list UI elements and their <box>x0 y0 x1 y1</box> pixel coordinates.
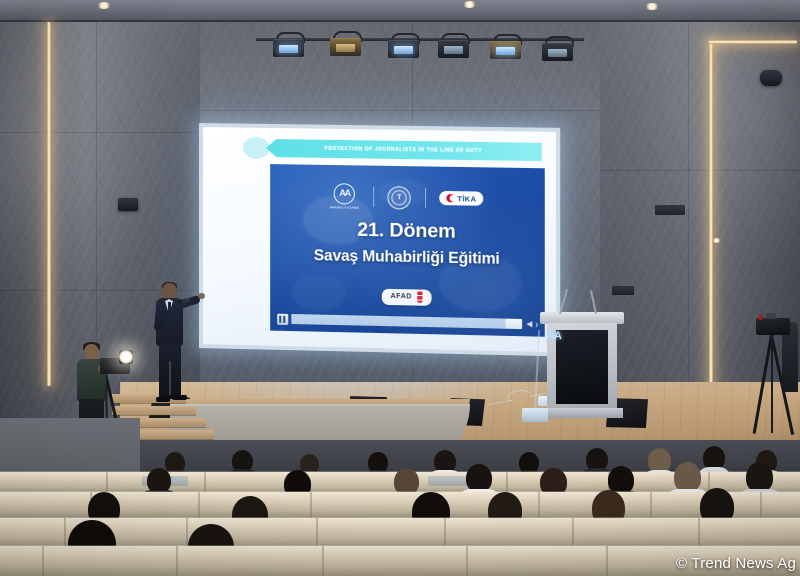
stage-light <box>438 33 469 58</box>
video-camera-icon <box>756 318 790 335</box>
led-joint-light-icon <box>712 238 721 243</box>
emblem-monogram: T <box>397 194 401 201</box>
slide-subtitle: Savaş Muhabirliği Eğitimi <box>270 247 544 268</box>
presenter-shoe <box>156 397 170 402</box>
ceiling-downlight-icon <box>644 3 660 10</box>
slide-ribbon-text: PROTECTION OF JOURNALISTS IN THE LINE OF… <box>324 146 482 154</box>
seek-progress <box>291 314 506 329</box>
lectern-aa-mark: AA <box>547 330 569 347</box>
cable-coil <box>508 390 534 405</box>
afad-emblem-icon <box>417 292 422 303</box>
conference-hall-photo: PROTECTION OF JOURNALISTS IN THE LINE OF… <box>0 0 800 576</box>
slide-ribbon: PROTECTION OF JOURNALISTS IN THE LINE OF… <box>266 139 542 161</box>
floor-equipment <box>522 408 548 422</box>
emblem-logo-icon: T <box>388 186 411 210</box>
camera-light <box>119 350 133 364</box>
slide-logo-row: AA ANADOLU AJANSI T TİKA <box>270 181 544 214</box>
camera-tally-light <box>758 315 763 320</box>
ribbon-accent-circle <box>243 136 270 159</box>
tika-wordmark: TİKA <box>457 194 476 203</box>
seek-bar[interactable] <box>291 314 522 329</box>
video-player-controls[interactable] <box>270 310 544 334</box>
ceiling-downlight-icon <box>462 1 477 8</box>
led-strip-right-horizontal <box>709 40 797 44</box>
crescent-icon <box>447 194 455 202</box>
presenter-shoe <box>172 395 187 400</box>
camera-handle <box>766 313 776 319</box>
stage-light <box>388 33 419 58</box>
aa-caption: ANADOLU AJANSI <box>330 206 360 211</box>
led-strip-left <box>47 22 51 386</box>
presenter <box>148 283 200 415</box>
anadolu-ajansi-logo-icon: AA ANADOLU AJANSI <box>330 183 360 210</box>
tripod-leg <box>771 335 773 433</box>
watermark: © Trend News Ag <box>676 555 796 572</box>
wall-speaker <box>118 198 138 211</box>
stage-light <box>490 34 521 59</box>
screen-surface: PROTECTION OF JOURNALISTS IN THE LINE OF… <box>203 127 556 352</box>
afad-badge: AFAD <box>381 289 431 306</box>
pause-button[interactable] <box>277 313 288 324</box>
tripod-leg <box>753 335 773 434</box>
volume-icon[interactable] <box>525 319 537 330</box>
logo-divider <box>373 187 374 207</box>
stage-light <box>273 32 304 57</box>
presenter-leg-gap <box>169 361 171 395</box>
projection-screen: PROTECTION OF JOURNALISTS IN THE LINE OF… <box>199 123 560 356</box>
lectern <box>543 312 621 420</box>
tika-logo-icon: TİKA <box>440 191 484 206</box>
aa-monogram: AA <box>339 189 349 198</box>
presenter-tie <box>168 302 171 315</box>
presenter-hand <box>198 293 205 299</box>
wall-vent <box>655 205 685 215</box>
ceiling-downlight-icon <box>96 2 112 9</box>
logo-divider <box>425 188 426 208</box>
stage-light <box>330 31 361 56</box>
slide-title: 21. Dönem <box>270 219 544 244</box>
stage-light <box>542 36 573 61</box>
wall-vent <box>612 286 634 295</box>
lighting-truss <box>256 38 584 41</box>
wall-speaker <box>760 70 782 86</box>
lectern-base <box>541 408 623 418</box>
afad-label: AFAD <box>391 293 412 301</box>
slide-video-panel: AA ANADOLU AJANSI T TİKA 21. Dönem Savaş… <box>270 164 544 337</box>
